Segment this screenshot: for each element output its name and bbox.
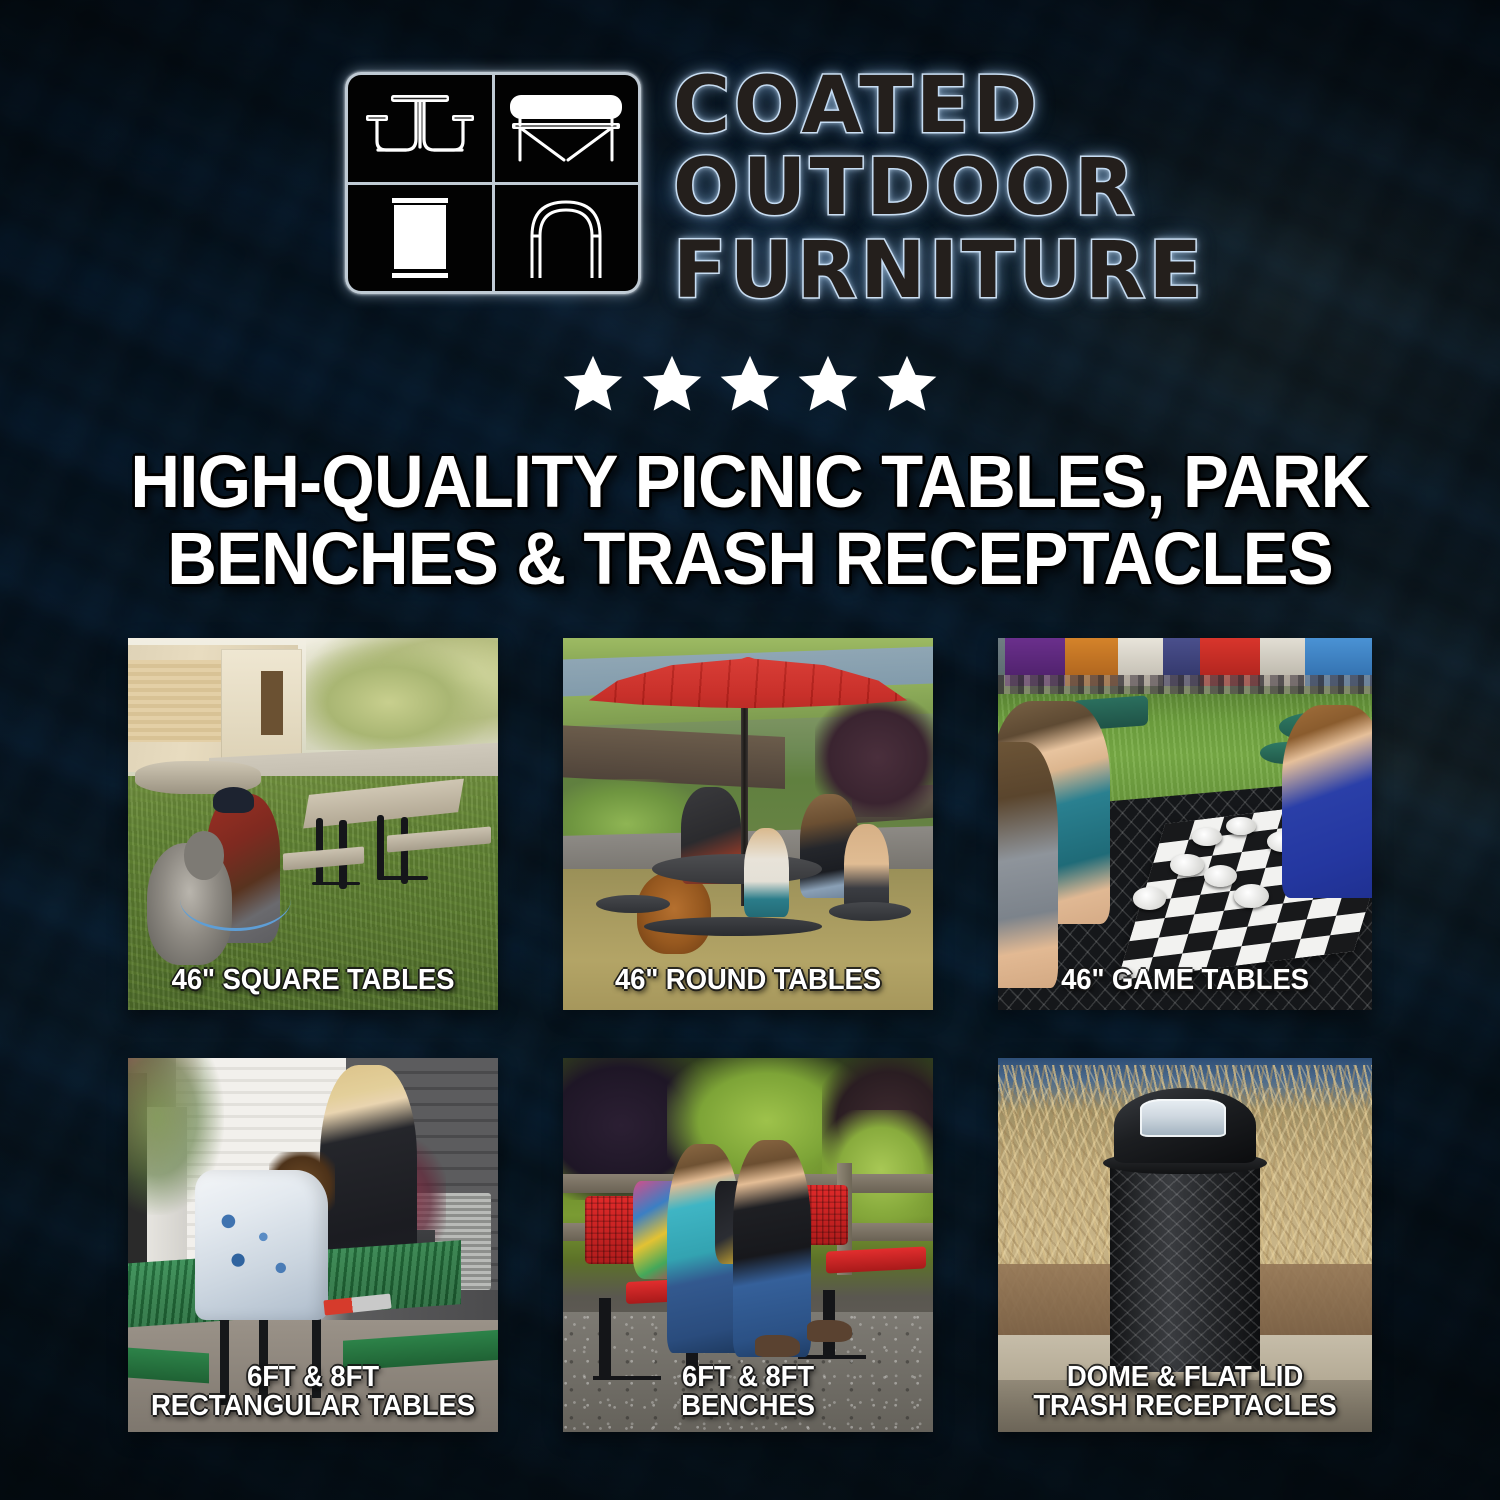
product-caption-game-tables: 46" GAME TABLES xyxy=(1013,966,1357,996)
arch-bike-rack-icon xyxy=(527,196,605,280)
product-photo-square-tables xyxy=(128,638,498,1010)
product-photo-game-tables xyxy=(998,638,1372,1010)
product-photo-round-tables xyxy=(563,638,933,1010)
page-title: HIGH-QUALITY PICNIC TABLES, PARK BENCHES… xyxy=(108,444,1391,598)
product-tile-round-tables[interactable]: 46" ROUND TABLES xyxy=(563,638,933,1010)
logo-cell-picnic-table xyxy=(348,75,492,182)
product-caption-benches: 6FT & 8FT BENCHES xyxy=(578,1363,918,1422)
star-icon-3 xyxy=(713,375,787,392)
brand-logo-mark xyxy=(345,72,641,294)
star-rating xyxy=(0,352,1500,416)
caption-line-2: RECTANGULAR TABLES xyxy=(143,1392,483,1422)
caption-line-1: 6FT & 8FT xyxy=(578,1363,918,1393)
product-caption-round-tables: 46" ROUND TABLES xyxy=(578,966,918,996)
caption-line-1: DOME & FLAT LID xyxy=(1013,1363,1357,1393)
product-caption-trash-receptacles: DOME & FLAT LID TRASH RECEPTACLES xyxy=(1013,1363,1357,1422)
star-icon-5 xyxy=(870,375,944,392)
brand-lockup: COATED OUTDOOR FURNITURE xyxy=(345,72,1205,309)
caption-line-1: 46" GAME TABLES xyxy=(1013,966,1357,996)
product-tile-trash-receptacles[interactable]: DOME & FLAT LID TRASH RECEPTACLES xyxy=(998,1058,1372,1432)
logo-cell-arch-bike-rack xyxy=(495,185,639,292)
headline-line-2: BENCHES & TRASH RECEPTACLES xyxy=(108,521,1391,598)
logo-cell-trash-receptacle xyxy=(348,185,492,292)
picnic-table-icon xyxy=(365,91,475,165)
star-icon-1 xyxy=(556,375,630,392)
brand-name-line-3: FURNITURE xyxy=(673,233,1205,309)
product-tile-square-tables[interactable]: 46" SQUARE TABLES xyxy=(128,638,498,1010)
caption-line-1: 6FT & 8FT xyxy=(143,1363,483,1393)
bench-icon xyxy=(508,92,624,164)
trash-receptacle-icon xyxy=(389,195,451,281)
headline-line-1: HIGH-QUALITY PICNIC TABLES, PARK xyxy=(108,444,1391,521)
caption-line-1: 46" SQUARE TABLES xyxy=(143,966,483,996)
product-caption-rectangular-tables: 6FT & 8FT RECTANGULAR TABLES xyxy=(143,1363,483,1422)
brand-wordmark: COATED OUTDOOR FURNITURE xyxy=(673,68,1205,309)
product-tile-game-tables[interactable]: 46" GAME TABLES xyxy=(998,638,1372,1010)
star-icon-2 xyxy=(635,375,709,392)
product-grid: 46" SQUARE TABLES 46" ROUND TABLES xyxy=(128,638,1372,1432)
caption-line-1: 46" ROUND TABLES xyxy=(578,966,918,996)
brand-name-line-1: COATED xyxy=(673,68,1205,144)
brand-name-line-2: OUTDOOR xyxy=(673,150,1205,226)
promo-graphic: COATED OUTDOOR FURNITURE HIGH-QUALITY PI… xyxy=(0,0,1500,1500)
product-tile-rectangular-tables[interactable]: 6FT & 8FT RECTANGULAR TABLES xyxy=(128,1058,498,1432)
product-tile-benches[interactable]: 6FT & 8FT BENCHES xyxy=(563,1058,933,1432)
star-icon-4 xyxy=(791,375,865,392)
logo-cell-bench xyxy=(495,75,639,182)
caption-line-2: BENCHES xyxy=(578,1392,918,1422)
caption-line-2: TRASH RECEPTACLES xyxy=(1013,1392,1357,1422)
product-caption-square-tables: 46" SQUARE TABLES xyxy=(143,966,483,996)
